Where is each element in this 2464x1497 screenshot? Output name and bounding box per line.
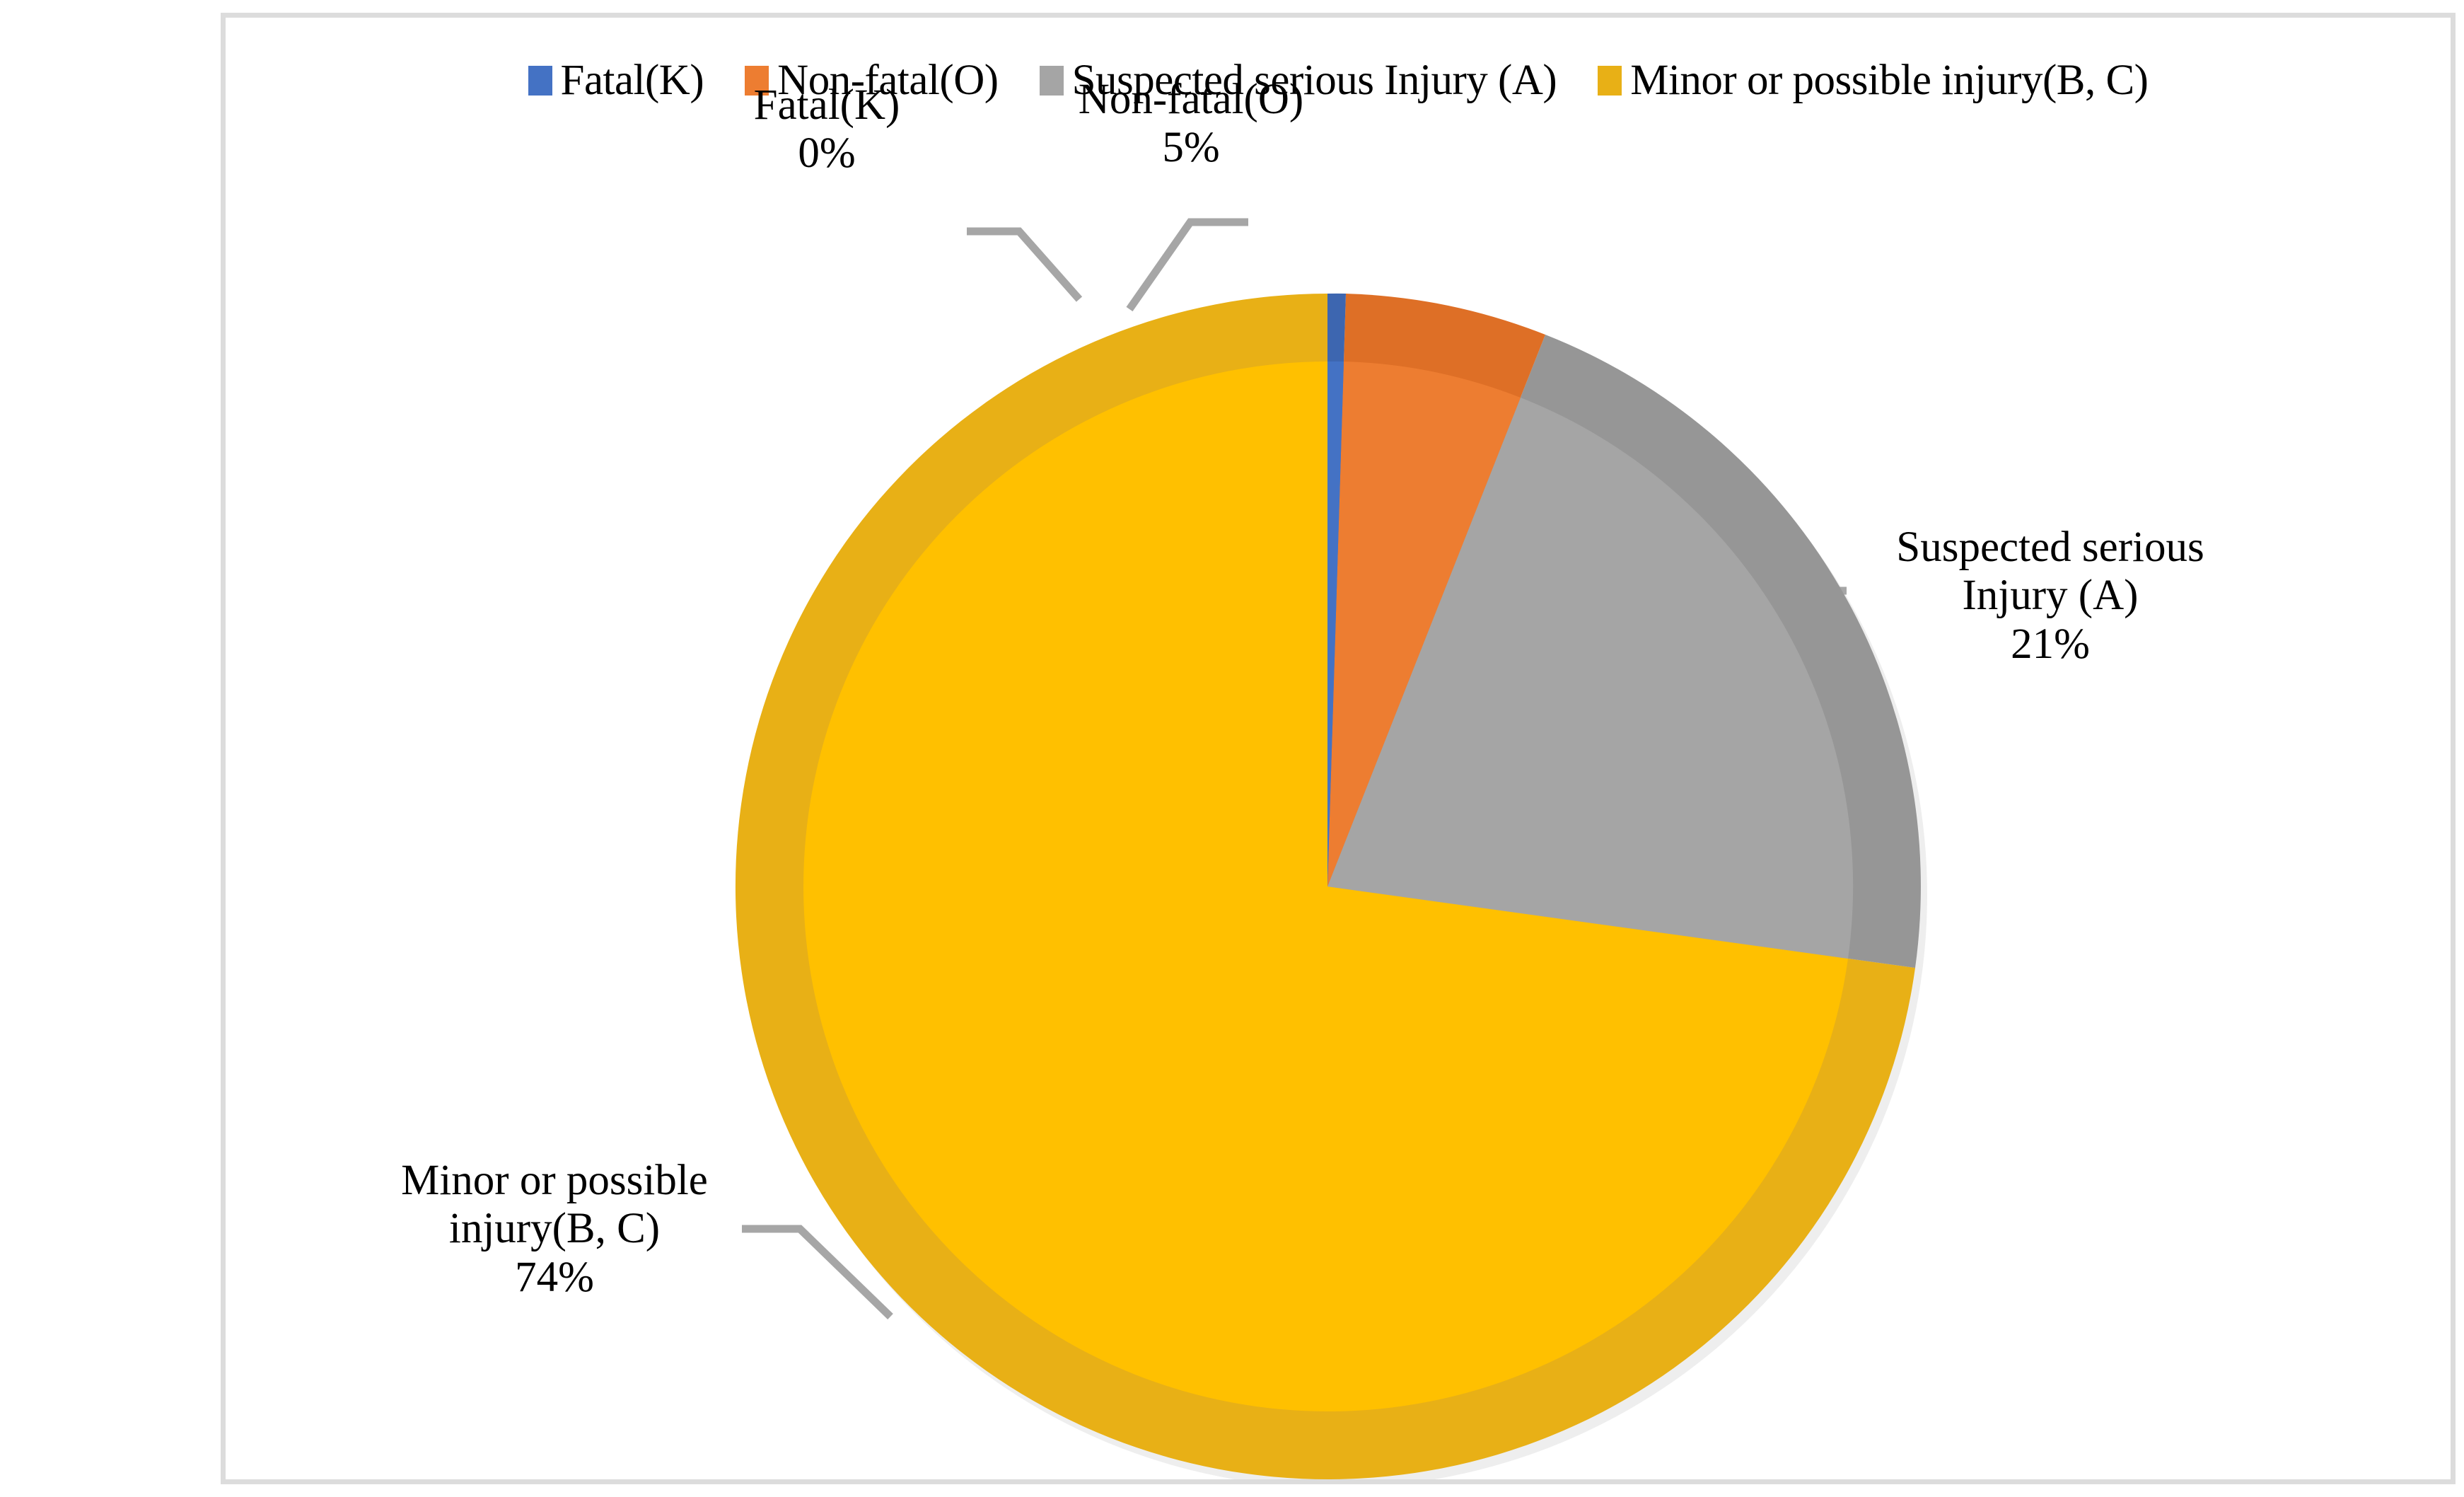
- data-label-non-fatal-name: Non-fatal(O): [1025, 76, 1357, 124]
- data-label-serious-name-line2: Injury (A): [1852, 572, 2248, 620]
- data-label-suspected-serious-injury: Suspected serious Injury (A) 21%: [1852, 524, 2248, 669]
- data-label-fatal-percent: 0%: [678, 129, 975, 178]
- data-label-fatal: Fatal(K) 0%: [678, 81, 975, 178]
- data-label-minor-or-possible-injury: Minor or possible injury(B, C) 74%: [367, 1157, 742, 1302]
- data-label-fatal-name: Fatal(K): [678, 81, 975, 129]
- leader-line-fatal: [967, 231, 1079, 299]
- leader-line-non-fatal: [1129, 222, 1248, 309]
- data-label-non-fatal-percent: 5%: [1025, 124, 1357, 172]
- data-label-serious-percent: 21%: [1852, 620, 2248, 669]
- data-label-minor-percent: 74%: [367, 1254, 742, 1302]
- data-label-non-fatal: Non-fatal(O) 5%: [1025, 76, 1357, 173]
- data-label-serious-name-line1: Suspected serious: [1852, 524, 2248, 572]
- pie-chart-plot-area: Fatal(K) 0% Non-fatal(O) 5% Suspected se…: [226, 18, 2451, 1479]
- chart-frame: Fatal(K) Non-fatal(O) Suspected serious …: [221, 13, 2456, 1484]
- data-label-minor-name-line1: Minor or possible: [367, 1157, 742, 1205]
- data-label-minor-name-line2: injury(B, C): [367, 1205, 742, 1253]
